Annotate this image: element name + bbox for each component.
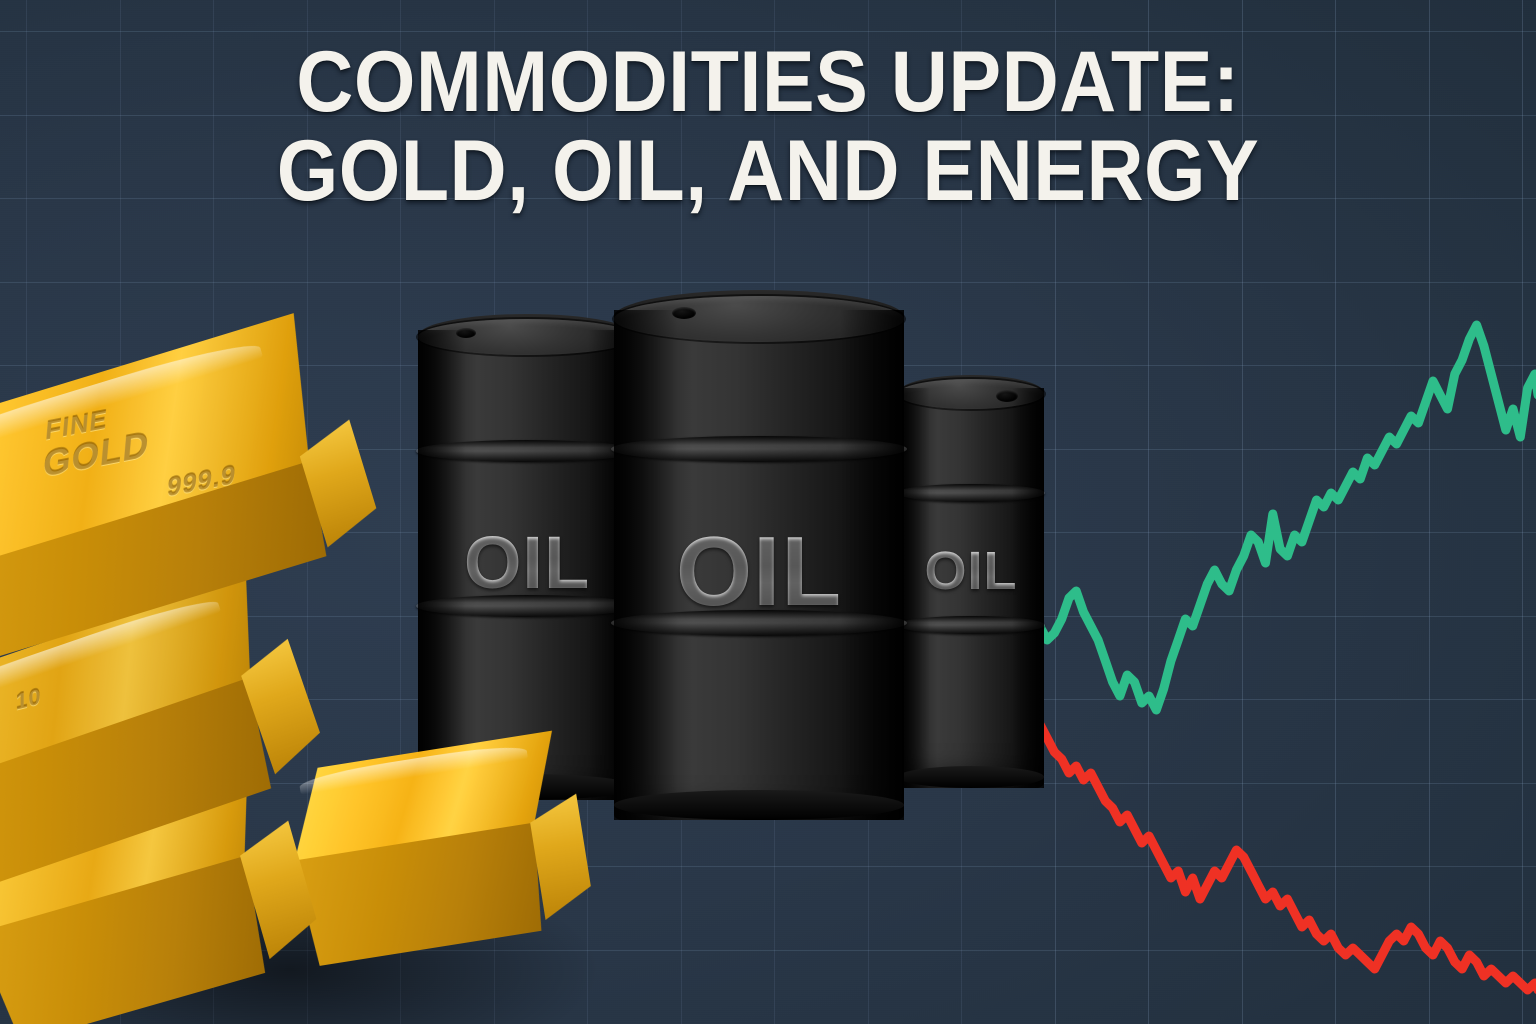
barrel-right: OIL [898,388,1044,788]
grid-line-horizontal [0,31,1536,32]
barrel-bung-cap [672,307,696,319]
barrel-bung-cap [996,390,1018,402]
price-chart [1018,290,1536,990]
barrel-rib-mid [897,616,1046,634]
barrel-oil-label: OIL [898,540,1044,602]
grid-line-horizontal [0,198,1536,199]
chart-svg [1018,290,1536,990]
chart-line-rising [1018,325,1536,710]
barrel-rib-top [897,484,1046,502]
poster-canvas: OIL OIL OIL [0,0,1536,1024]
gold-bar-stack: 100 10 FINE GOLD 999.9 [0,320,660,1024]
barrel-bottom-edge [898,766,1044,788]
barrel-lid [898,379,1044,409]
grid-line-horizontal [0,282,1536,283]
chart-line-falling [1018,710,1536,990]
grid-line-horizontal [0,115,1536,116]
